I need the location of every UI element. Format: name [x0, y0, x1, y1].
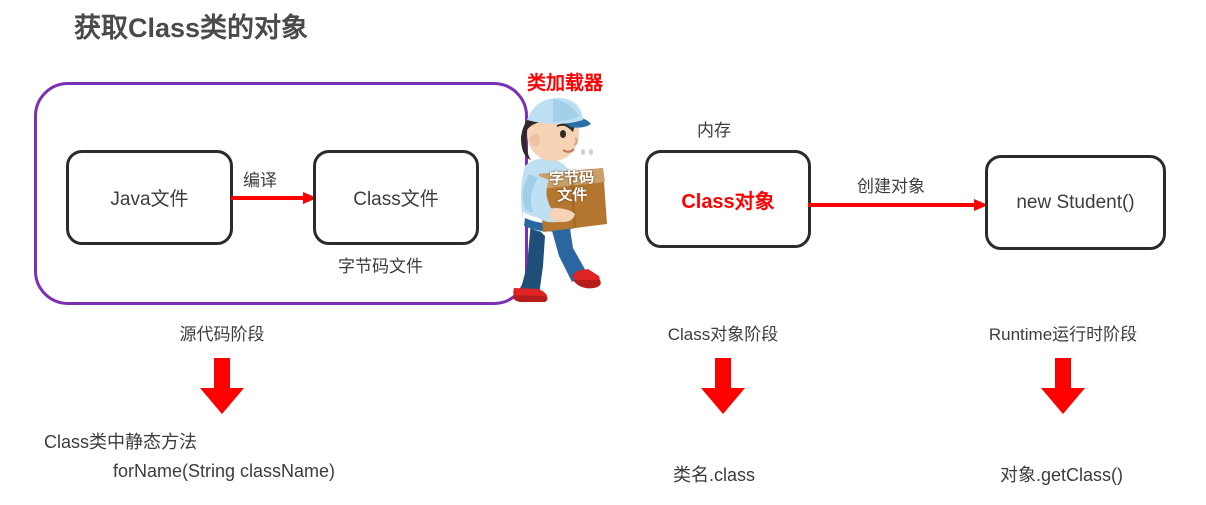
node-new-student: new Student()	[985, 155, 1166, 250]
down-arrow-icon-source-code	[200, 358, 244, 414]
node-new-student-label: new Student()	[1016, 192, 1134, 214]
stage-label-runtime: Runtime运行时阶段	[983, 320, 1143, 345]
caption-bytecode-file: 字节码文件	[338, 252, 423, 277]
parcel-label-line2: 文件	[557, 186, 588, 204]
bottom-text-runtime: 对象.getClass()	[1000, 461, 1123, 487]
node-class-object-label: Class对象	[681, 185, 774, 214]
bottom-text-source-code-line2: forName(String className)	[113, 461, 335, 482]
stage-label-source-code: 源代码阶段	[159, 320, 285, 345]
down-arrow-icon-class-object	[701, 358, 745, 414]
diagram-canvas: 获取Class类的对象 Java文件 编译 Class文件 字节码文件 类加载器	[0, 0, 1206, 505]
create-object-arrow-icon	[808, 198, 988, 212]
parcel-label-line1: 字节码	[549, 169, 595, 188]
down-arrow-icon-runtime	[1041, 358, 1085, 414]
node-class-object: Class对象	[645, 150, 811, 248]
stage-label-class-object: Class对象阶段	[655, 320, 791, 345]
parcel-label: 字节码 文件	[540, 169, 603, 205]
page-title: 获取Class类的对象	[74, 6, 308, 45]
compile-arrow-label: 编译	[243, 166, 277, 191]
caption-memory: 内存	[697, 116, 731, 141]
node-java-file: Java文件	[66, 150, 233, 245]
bottom-text-class-object: 类名.class	[673, 461, 755, 487]
bottom-text-source-code-line1: Class类中静态方法	[44, 428, 197, 454]
node-class-file: Class文件	[313, 150, 479, 245]
compile-arrow-icon	[231, 191, 317, 205]
node-class-file-label: Class文件	[353, 184, 439, 211]
create-object-arrow-label: 创建对象	[857, 172, 925, 197]
node-java-file-label: Java文件	[110, 184, 188, 211]
